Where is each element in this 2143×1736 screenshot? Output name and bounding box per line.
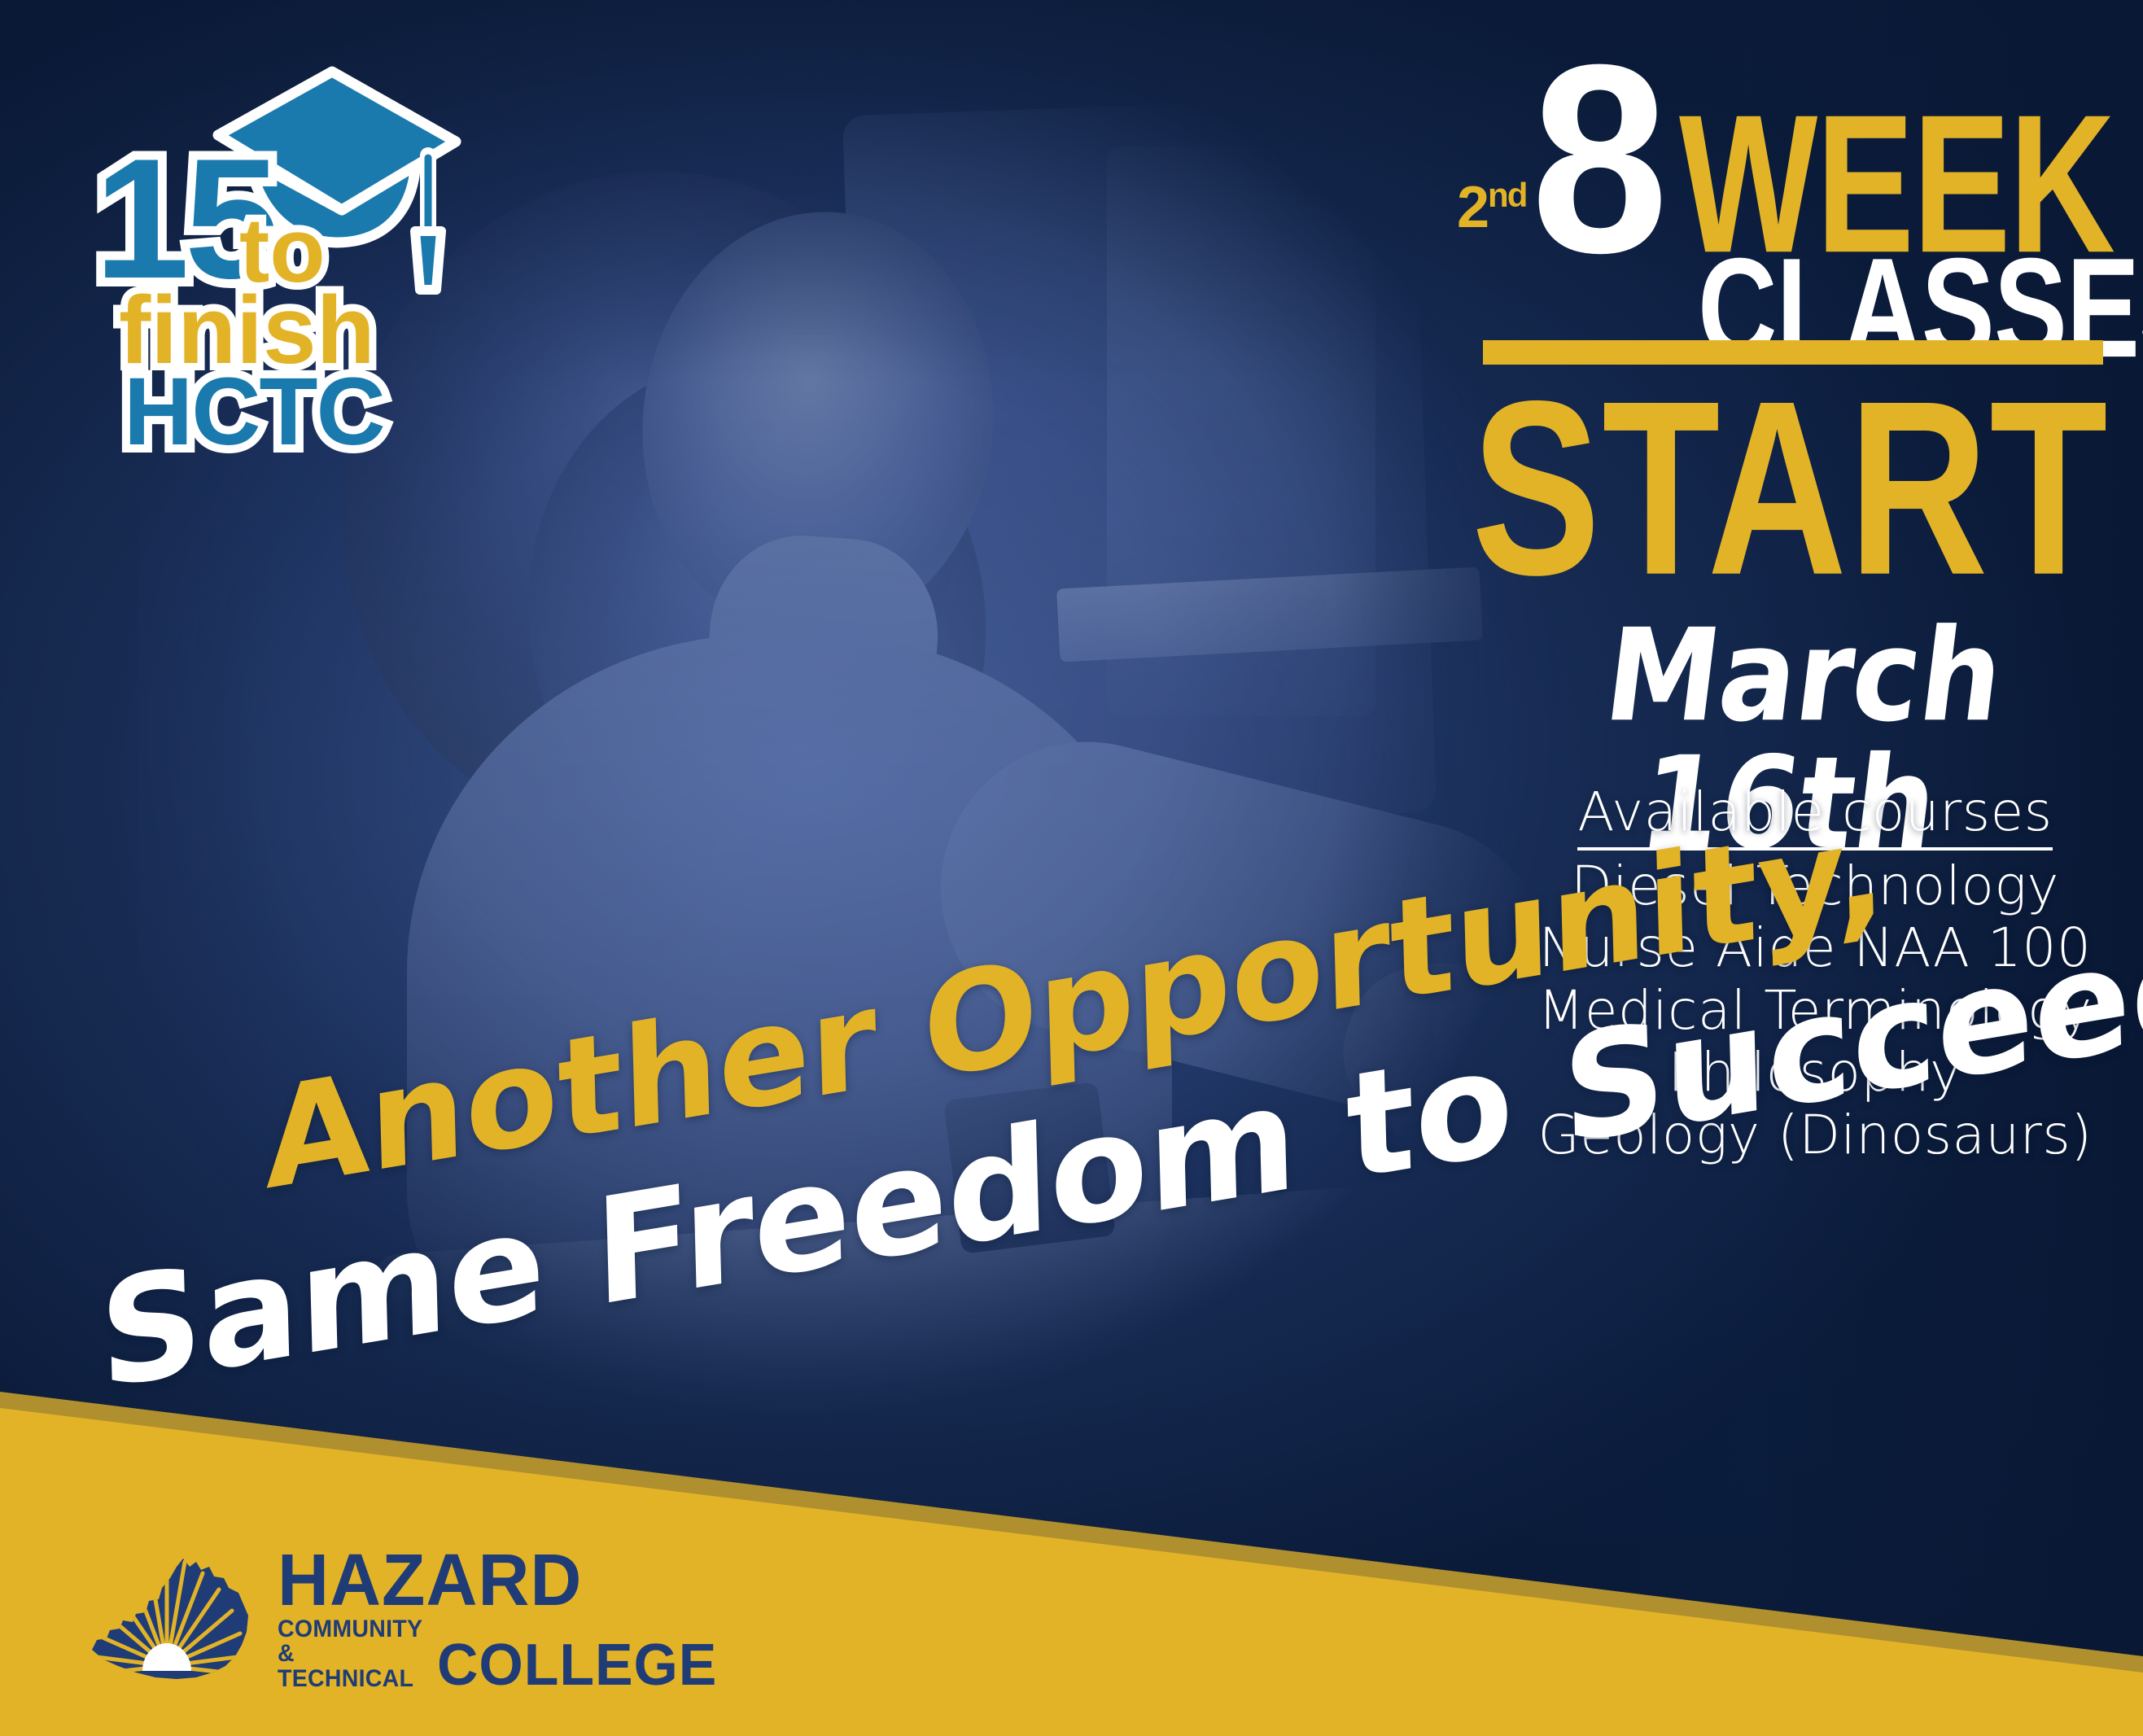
kentucky-sunrise-icon: [85, 1542, 256, 1697]
college-type-lines: COMMUNITY & TECHNICAL: [278, 1617, 422, 1692]
svg-text:HCTC: HCTC: [124, 358, 384, 461]
college-logo-wordmark: HAZARD COMMUNITY & TECHNICAL COLLEGE: [278, 1548, 726, 1692]
promotional-poster: 15 to finish HCTC 2nd 8 WEEK CLASSES STA…: [0, 0, 2143, 1736]
college-subtitle: COMMUNITY & TECHNICAL COLLEGE: [278, 1617, 726, 1692]
start-word: START: [1472, 376, 2109, 600]
weeks-number: 8: [1531, 57, 1661, 261]
college-word: COLLEGE: [437, 1641, 717, 1691]
college-technical-label: & TECHNICAL: [278, 1642, 422, 1691]
headline-block: 2nd 8 WEEK CLASSES START March 16th: [1457, 57, 2124, 350]
fifteen-to-finish-logo: 15 to finish HCTC: [88, 37, 470, 461]
college-community-label: COMMUNITY: [278, 1617, 422, 1642]
college-name: HAZARD: [278, 1548, 712, 1614]
ordinal-label: 2nd: [1457, 181, 1526, 232]
hazard-college-logo: HAZARD COMMUNITY & TECHNICAL COLLEGE: [85, 1538, 647, 1701]
logo-word-hctc: HCTC: [124, 358, 384, 461]
